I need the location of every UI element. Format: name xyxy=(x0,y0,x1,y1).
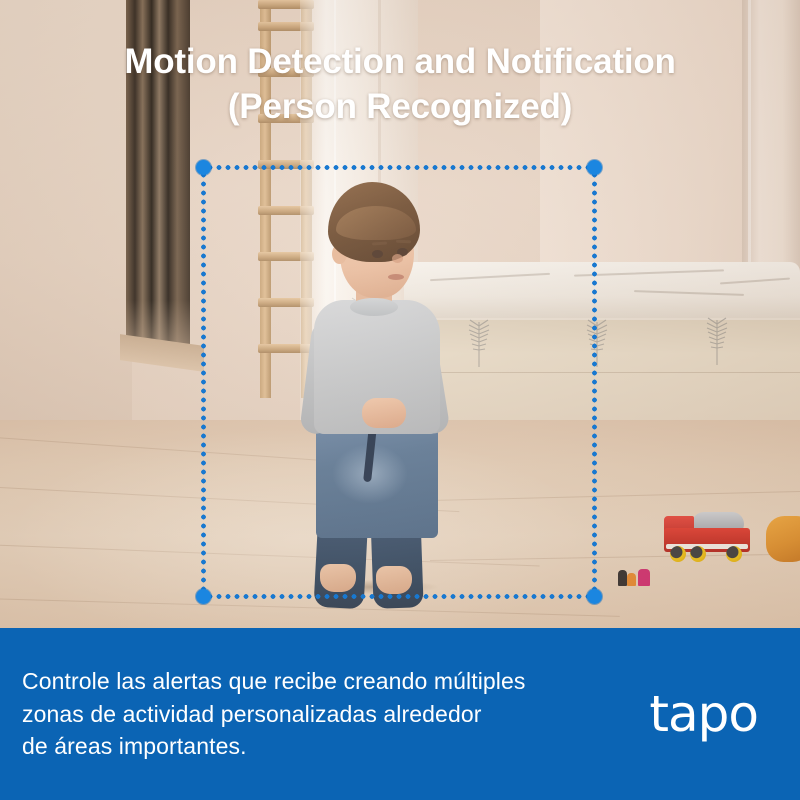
detection-zone-handle-top-left[interactable] xyxy=(196,160,211,175)
headline: Motion Detection and Notification (Perso… xyxy=(0,40,800,130)
child-eyebrow xyxy=(396,240,411,244)
detection-zone-handle-top-right[interactable] xyxy=(587,160,602,175)
caption-banner: Controle las alertas que recibe creando … xyxy=(0,628,800,800)
child-mouth xyxy=(388,274,404,280)
fire-truck-wheel xyxy=(690,546,706,562)
feather-motif xyxy=(584,316,610,368)
child-collar xyxy=(350,298,398,316)
fire-truck-toy xyxy=(664,512,750,560)
child-foot-right xyxy=(376,566,412,594)
toy-figurine xyxy=(618,570,627,586)
toy-figurine xyxy=(638,569,650,586)
caption-line-3: de áreas importantes. xyxy=(22,730,526,763)
toy-figurines xyxy=(618,566,656,586)
caption-line-1: Controle las alertas que recibe creando … xyxy=(22,665,526,698)
child-eye xyxy=(372,250,383,258)
headline-line-1: Motion Detection and Notification xyxy=(0,40,800,85)
fire-truck-wheel xyxy=(726,546,742,562)
orange-cushion xyxy=(766,516,800,562)
fire-truck-wheel xyxy=(670,546,686,562)
bed-mattress xyxy=(404,262,800,324)
detection-zone-handle-bottom-left[interactable] xyxy=(196,589,211,604)
feather-motif xyxy=(466,316,492,368)
child-hands xyxy=(362,398,406,428)
promo-graphic: Motion Detection and Notification (Perso… xyxy=(0,0,800,800)
caption-text: Controle las alertas que recibe creando … xyxy=(22,665,526,763)
caption-line-2: zonas de actividad personalizadas alrede… xyxy=(22,698,526,731)
feather-motif xyxy=(704,314,730,366)
toy-figurine xyxy=(627,573,636,586)
child-nose xyxy=(392,254,403,263)
child-subject xyxy=(288,182,458,592)
child-foot-left xyxy=(320,564,356,592)
headline-line-2: (Person Recognized) xyxy=(0,85,800,130)
detection-zone-handle-bottom-right[interactable] xyxy=(587,589,602,604)
tapo-logo: tapo xyxy=(649,689,758,739)
